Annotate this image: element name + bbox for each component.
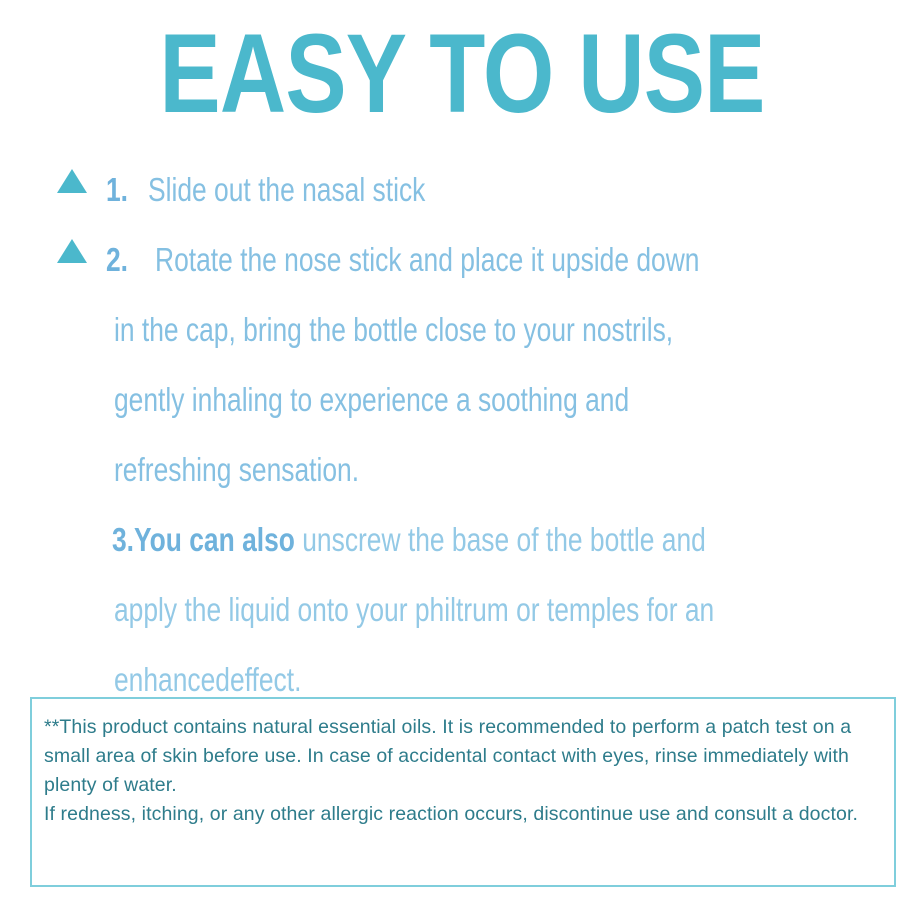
instruction-step-3-line-1: 3.You can also unscrew the base of the b… <box>0 505 924 575</box>
step-2-text-line-2: in the cap, bring the bottle close to yo… <box>114 295 673 365</box>
instruction-step-2-cont-3: refreshing sensation. <box>0 435 924 505</box>
step-2-number: 2. <box>106 225 128 295</box>
step-3-lead-wrapper: 3.You can also unscrew the base of the b… <box>112 505 706 575</box>
step-2-text-line-4: refreshing sensation. <box>114 435 359 505</box>
instruction-step-3-cont-1: apply the liquid onto your philtrum or t… <box>0 575 924 645</box>
step-1-text: Slide out the nasal stick <box>148 155 425 225</box>
step-1-number: 1. <box>106 155 128 225</box>
instructions-list: 1. Slide out the nasal stick 2. Rotate t… <box>0 155 924 715</box>
step-2-text-line-1: Rotate the nose stick and place it upsid… <box>155 225 699 295</box>
instruction-step-2-cont-2: gently inhaling to experience a soothing… <box>0 365 924 435</box>
instruction-step-3-line-2: apply the liquid onto your philtrum or t… <box>0 575 924 645</box>
step-2-text-line-3: gently inhaling to experience a soothing… <box>114 365 629 435</box>
instruction-step-2-line-4: refreshing sensation. <box>0 435 924 505</box>
disclaimer-paragraph-2: If redness, itching, or any other allerg… <box>44 800 880 829</box>
instruction-step-2-line-3: gently inhaling to experience a soothing… <box>0 365 924 435</box>
disclaimer-box: **This product contains natural essentia… <box>30 697 896 887</box>
instruction-step-1: 1. Slide out the nasal stick <box>0 155 924 225</box>
instruction-step-2: 2. Rotate the nose stick and place it up… <box>0 225 924 295</box>
step-3-text-line-2: apply the liquid onto your philtrum or t… <box>114 575 714 645</box>
page-title: EASY TO USE <box>83 14 841 134</box>
instruction-step-2-cont-1: in the cap, bring the bottle close to yo… <box>0 295 924 365</box>
disclaimer-paragraph-1: **This product contains natural essentia… <box>44 713 880 800</box>
instruction-step-1-line: 1. Slide out the nasal stick <box>0 155 924 225</box>
instruction-step-2-line-1: 2. Rotate the nose stick and place it up… <box>0 225 924 295</box>
step-3-text-line-1: unscrew the base of the bottle and <box>302 521 706 558</box>
instruction-step-2-line-2: in the cap, bring the bottle close to yo… <box>0 295 924 365</box>
step-3-lead-bold: 3.You can also <box>112 521 295 558</box>
instruction-step-3: 3.You can also unscrew the base of the b… <box>0 505 924 575</box>
